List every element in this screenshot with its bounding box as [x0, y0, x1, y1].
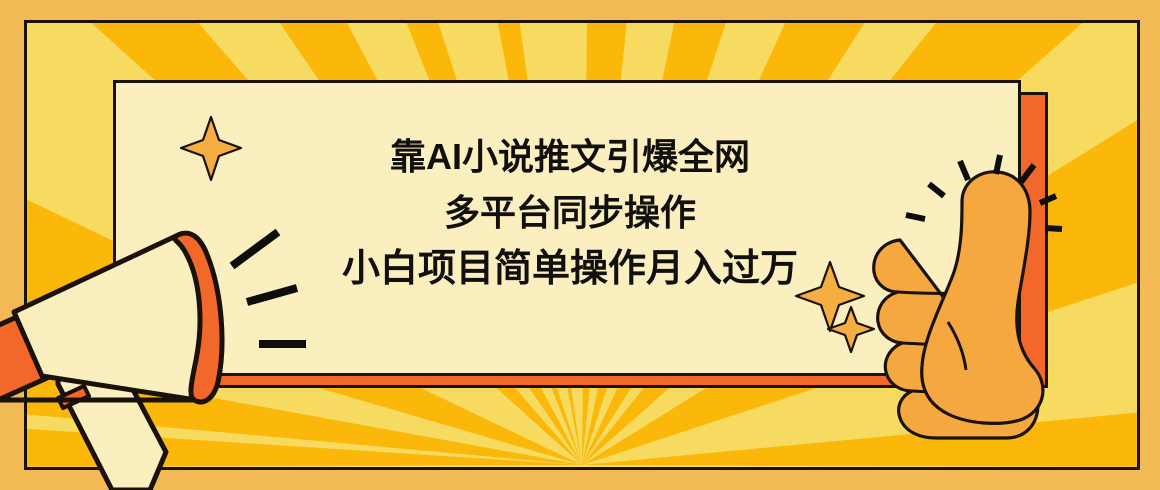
- headline-line-2: 多平台同步操作: [116, 185, 1021, 241]
- promo-banner: 靠AI小说推文引爆全网 多平台同步操作 小白项目简单操作月入过万: [0, 0, 1160, 490]
- content-card: 靠AI小说推文引爆全网 多平台同步操作 小白项目简单操作月入过万: [113, 80, 1021, 376]
- headline-line-1: 靠AI小说推文引爆全网: [116, 129, 1021, 185]
- headline-line-3: 小白项目简单操作月入过万: [116, 241, 1021, 297]
- headline-block: 靠AI小说推文引爆全网 多平台同步操作 小白项目简单操作月入过万: [116, 129, 1021, 297]
